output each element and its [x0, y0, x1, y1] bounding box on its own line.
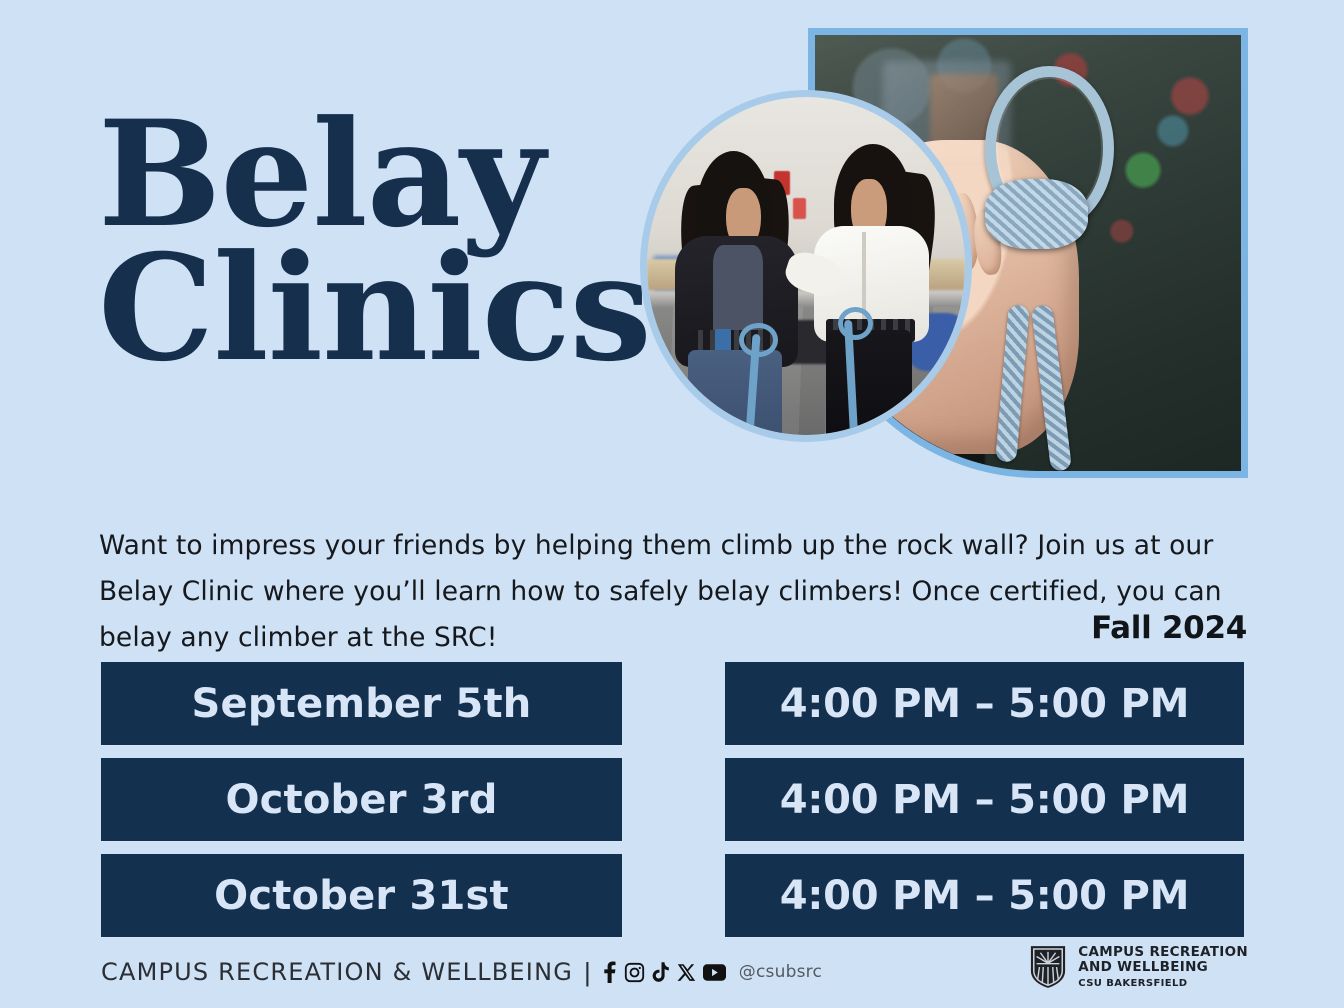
term-label: Fall 2024	[1091, 610, 1247, 646]
social-links	[602, 961, 726, 983]
title-line-2: Clinics	[98, 242, 658, 376]
schedule-date-bar[interactable]: October 3rd	[101, 758, 622, 841]
schedule-date-bar[interactable]: October 31st	[101, 854, 622, 937]
schedule-time-bar[interactable]: 4:00 PM – 5:00 PM	[725, 758, 1244, 841]
student-left	[672, 151, 806, 435]
schedule-date-label: October 31st	[214, 873, 509, 919]
student-right	[806, 144, 946, 435]
page-title: Belay Clinics	[98, 108, 658, 377]
figure-eight-knot	[985, 179, 1087, 249]
harness-clinic-photo-image	[647, 97, 965, 435]
schedule-date-label: September 5th	[192, 681, 532, 727]
schedule-time-label: 4:00 PM – 5:00 PM	[780, 681, 1190, 727]
brand-line-2: AND WELLBEING	[1078, 960, 1248, 975]
schedule-time-label: 4:00 PM – 5:00 PM	[780, 777, 1190, 823]
harness-clinic-photo	[640, 90, 972, 442]
brand-line-3: CSU BAKERSFIELD	[1078, 978, 1248, 989]
schedule-time-label: 4:00 PM – 5:00 PM	[780, 873, 1190, 919]
photo-cluster	[640, 28, 1260, 488]
rope-loop	[838, 307, 873, 341]
footer-divider: |	[584, 959, 591, 985]
footer: CAMPUS RECREATION & WELLBEING | @csubsrc	[101, 958, 822, 986]
schedule-time-bar[interactable]: 4:00 PM – 5:00 PM	[725, 662, 1244, 745]
facebook-icon[interactable]	[602, 961, 617, 983]
brand-line-1: CAMPUS RECREATION	[1078, 945, 1248, 960]
shirt	[713, 245, 764, 336]
schedule-list: September 5th 4:00 PM – 5:00 PM October …	[101, 662, 1244, 950]
schedule-row: September 5th 4:00 PM – 5:00 PM	[101, 662, 1244, 745]
department-name: CAMPUS RECREATION & WELLBEING	[101, 958, 573, 986]
tiktok-icon[interactable]	[652, 962, 670, 983]
brand-text: CAMPUS RECREATION AND WELLBEING CSU BAKE…	[1078, 945, 1248, 988]
schedule-date-label: October 3rd	[225, 777, 497, 823]
leggings	[826, 330, 913, 435]
x-twitter-icon[interactable]	[677, 963, 696, 982]
social-handle: @csubsrc	[739, 962, 822, 982]
instagram-icon[interactable]	[624, 962, 645, 983]
schedule-date-bar[interactable]: September 5th	[101, 662, 622, 745]
poster-canvas: Belay Clinics	[0, 0, 1344, 1008]
youtube-icon[interactable]	[703, 964, 726, 981]
shield-sunburst-crest-icon	[1029, 944, 1067, 990]
brand-lockup: CAMPUS RECREATION AND WELLBEING CSU BAKE…	[1029, 944, 1248, 990]
description-paragraph: Want to impress your friends by helping …	[99, 523, 1249, 661]
schedule-row: October 31st 4:00 PM – 5:00 PM	[101, 854, 1244, 937]
schedule-time-bar[interactable]: 4:00 PM – 5:00 PM	[725, 854, 1244, 937]
schedule-row: October 3rd 4:00 PM – 5:00 PM	[101, 758, 1244, 841]
jeans	[688, 350, 781, 435]
